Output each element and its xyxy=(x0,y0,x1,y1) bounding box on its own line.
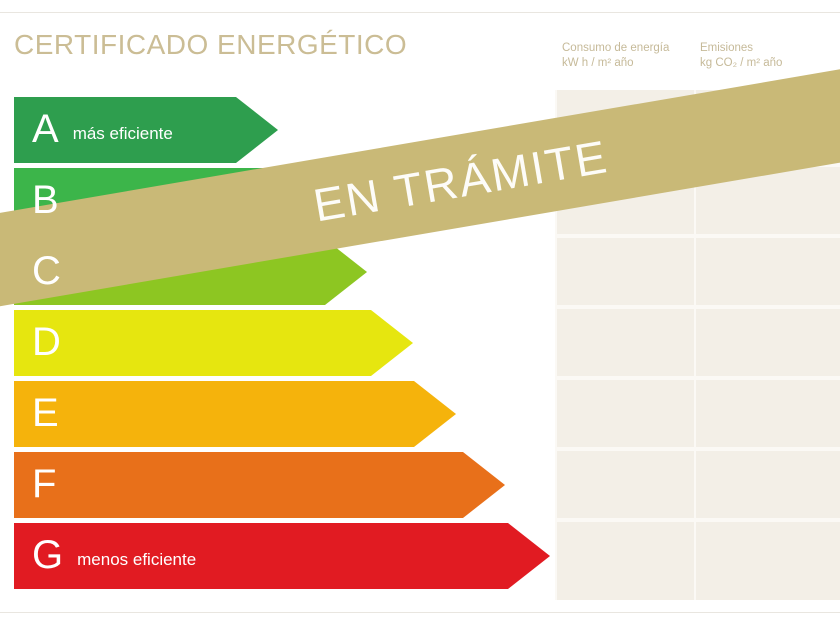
table-row-divider xyxy=(555,305,840,309)
column-header-consumo: Consumo de energía kW h / m² año xyxy=(562,41,669,71)
rating-letter-f: F xyxy=(32,464,56,504)
rating-letter-e: E xyxy=(32,393,59,433)
table-row-divider xyxy=(555,376,840,380)
rating-letter-d: D xyxy=(32,322,61,362)
rating-letter-g: G xyxy=(32,535,63,575)
table-row-divider xyxy=(555,234,840,238)
column-header-emisiones-label: Emisiones xyxy=(700,42,753,54)
column-header-emisiones-units: kg CO₂ / m² año xyxy=(700,56,782,71)
rating-bar-arrow-d xyxy=(14,310,413,376)
table-row-divider xyxy=(555,518,840,522)
rating-bar-a: Amás eficiente xyxy=(14,97,278,163)
rating-bar-e: E xyxy=(14,381,456,447)
rating-caption-a: más eficiente xyxy=(73,124,173,144)
rating-bar-arrow-f xyxy=(14,452,505,518)
bottom-divider xyxy=(0,612,840,613)
column-header-consumo-label: Consumo de energía xyxy=(562,42,669,54)
rating-letter-b: B xyxy=(32,180,59,220)
rating-bar-arrow-e xyxy=(14,381,456,447)
column-header-emisiones: Emisiones kg CO₂ / m² año xyxy=(700,41,782,71)
column-header-consumo-units: kW h / m² año xyxy=(562,56,669,71)
rating-bar-d: D xyxy=(14,310,413,376)
rating-letter-a: A xyxy=(32,109,59,149)
top-divider xyxy=(0,12,840,13)
rating-bar-g: Gmenos eficiente xyxy=(14,523,550,589)
rating-letter-c: C xyxy=(32,251,61,291)
page-title: CERTIFICADO ENERGÉTICO xyxy=(14,29,407,61)
rating-bar-f: F xyxy=(14,452,505,518)
table-row-divider xyxy=(555,447,840,451)
energy-certificate: CERTIFICADO ENERGÉTICO Consumo de energí… xyxy=(0,0,840,630)
rating-caption-g: menos eficiente xyxy=(77,550,196,570)
